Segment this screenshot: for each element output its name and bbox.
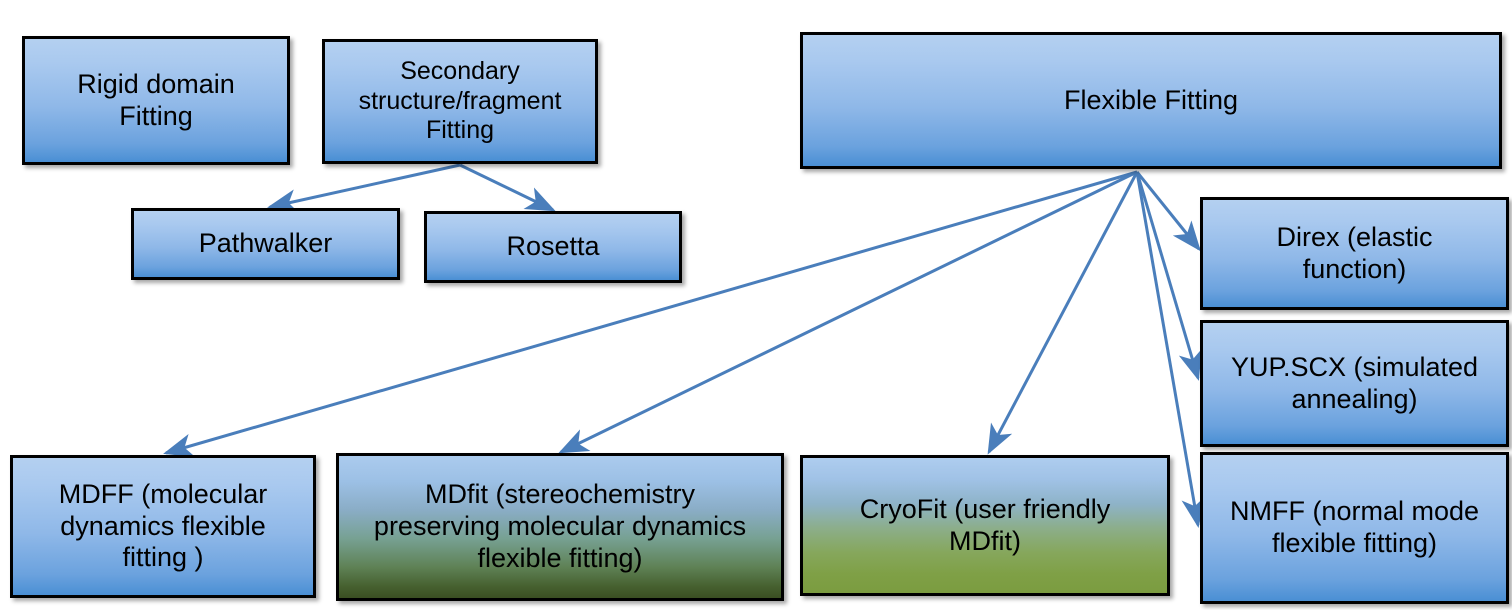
node-label: MDFF (moleculardynamics flexiblefitting …	[59, 479, 268, 575]
node-label-line: Pathwalker	[199, 228, 333, 260]
node-label-line: NMFF (normal mode	[1230, 496, 1479, 528]
node-pathwalker[interactable]: Pathwalker	[131, 208, 400, 280]
node-rosetta[interactable]: Rosetta	[424, 211, 682, 283]
node-label: Rosetta	[506, 231, 599, 263]
node-label-line: Secondary	[359, 57, 562, 87]
node-mdff[interactable]: MDFF (moleculardynamics flexiblefitting …	[10, 455, 316, 598]
node-label-line: function)	[1276, 254, 1432, 286]
node-rigid-domain-fitting[interactable]: Rigid domainFitting	[22, 36, 290, 165]
node-label: Flexible Fitting	[1064, 85, 1238, 117]
node-label: CryoFit (user friendlyMDfit)	[860, 494, 1111, 558]
edge-flexible-to-cryofit	[989, 172, 1137, 452]
node-label: NMFF (normal modeflexible fitting)	[1230, 496, 1479, 560]
node-label-line: fitting )	[59, 542, 268, 574]
node-label-line: Rigid domain	[77, 69, 235, 101]
node-label-line: Flexible Fitting	[1064, 85, 1238, 117]
node-nmff[interactable]: NMFF (normal modeflexible fitting)	[1200, 452, 1509, 604]
node-label-line: preserving molecular dynamics	[374, 511, 746, 543]
node-label-line: MDfit)	[860, 526, 1111, 558]
edge-flexible-to-direx	[1137, 172, 1199, 249]
node-label: Pathwalker	[199, 228, 333, 260]
node-flexible-fitting[interactable]: Flexible Fitting	[800, 32, 1502, 169]
node-label-line: structure/fragment	[359, 87, 562, 117]
node-label-line: Fitting	[77, 101, 235, 133]
node-label-line: MDFF (molecular	[59, 479, 268, 511]
edge-secondary-to-pathwalker	[270, 165, 460, 207]
node-label-line: Direx (elastic	[1276, 222, 1432, 254]
node-cryofit[interactable]: CryoFit (user friendlyMDfit)	[800, 455, 1170, 596]
node-label-line: flexible fitting)	[1230, 528, 1479, 560]
node-label: MDfit (stereochemistrypreserving molecul…	[374, 479, 746, 575]
node-direx[interactable]: Direx (elasticfunction)	[1200, 197, 1509, 310]
node-yup-scx[interactable]: YUP.SCX (simulatedannealing)	[1200, 320, 1509, 447]
node-label: Direx (elasticfunction)	[1276, 222, 1432, 286]
node-label-line: flexible fitting)	[374, 543, 746, 575]
node-label-line: Fitting	[359, 116, 562, 146]
diagram-canvas: Rigid domainFittingSecondarystructure/fr…	[0, 0, 1512, 610]
node-label-line: MDfit (stereochemistry	[374, 479, 746, 511]
node-label-line: dynamics flexible	[59, 511, 268, 543]
edge-secondary-to-rosetta	[460, 165, 553, 210]
node-label: YUP.SCX (simulatedannealing)	[1231, 352, 1478, 416]
edge-flexible-to-yupscx	[1137, 172, 1198, 378]
node-secondary-structure-fragment-fitting[interactable]: Secondarystructure/fragmentFitting	[322, 39, 598, 164]
node-label-line: YUP.SCX (simulated	[1231, 352, 1478, 384]
node-mdfit[interactable]: MDfit (stereochemistrypreserving molecul…	[336, 453, 784, 601]
node-label-line: annealing)	[1231, 384, 1478, 416]
node-label: Rigid domainFitting	[77, 69, 235, 133]
node-label-line: Rosetta	[506, 231, 599, 263]
node-label-line: CryoFit (user friendly	[860, 494, 1111, 526]
node-label: Secondarystructure/fragmentFitting	[359, 57, 562, 146]
